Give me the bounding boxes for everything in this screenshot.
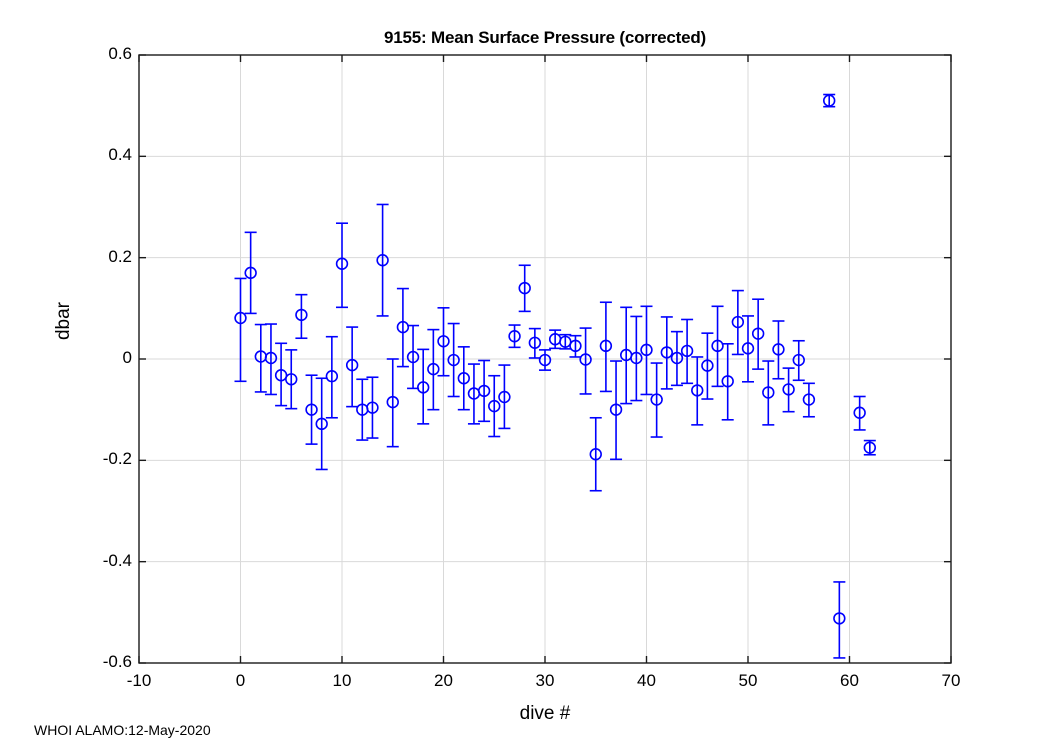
x-tick-label: 30 [515, 671, 575, 691]
x-tick-label: 50 [718, 671, 778, 691]
y-axis-label: dbar [53, 251, 75, 391]
x-tick-label: 40 [617, 671, 677, 691]
x-tick-label: 60 [820, 671, 880, 691]
x-tick-label: 10 [312, 671, 372, 691]
x-tick-label-group: -10010203040506070 [0, 0, 1050, 750]
x-axis-label: dive # [139, 703, 951, 725]
figure-canvas: 9155: Mean Surface Pressure (corrected) … [0, 0, 1050, 750]
x-tick-label: -10 [109, 671, 169, 691]
x-tick-label: 0 [211, 671, 271, 691]
figure-source-note: WHOI ALAMO:12-May-2020 [34, 722, 211, 738]
x-tick-label: 20 [414, 671, 474, 691]
x-tick-label: 70 [921, 671, 981, 691]
